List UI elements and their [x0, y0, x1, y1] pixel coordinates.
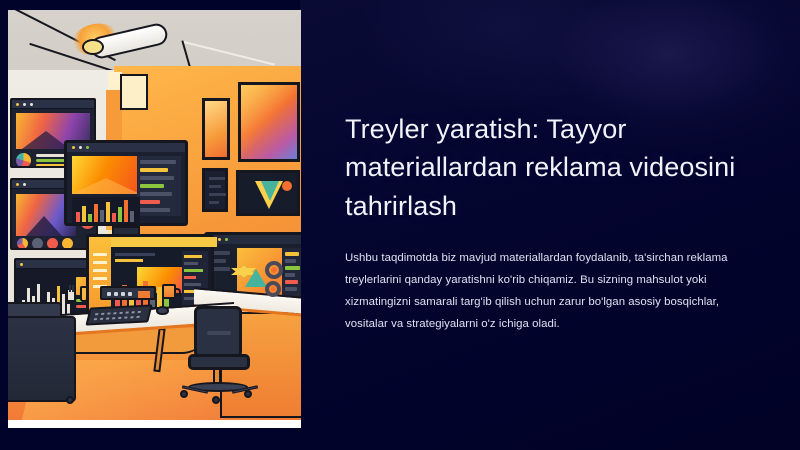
panel-row: [140, 176, 174, 180]
window-dot: [86, 146, 89, 149]
layer-row: [285, 266, 300, 270]
panel-row: [140, 160, 176, 164]
window-dot: [218, 238, 221, 241]
layer-row: [285, 280, 298, 284]
window-dot: [16, 103, 19, 106]
office-chair-base: [188, 382, 248, 392]
poster-circle: [282, 181, 292, 191]
keyboard-key: [106, 317, 110, 319]
triangle-shape-icon: [245, 269, 267, 287]
keyboard-key: [100, 318, 104, 320]
donut-chart: [47, 238, 58, 249]
tool-item: [93, 261, 107, 264]
keyboard-key: [130, 316, 134, 318]
side-panel: [137, 156, 181, 216]
console-panel: [138, 291, 150, 298]
slide-root: Treyler yaratish: Tayyor materiallardan …: [0, 0, 800, 450]
office-chair-backrest: [194, 306, 242, 358]
chart-bar: [94, 204, 98, 222]
tool-item: [93, 277, 107, 280]
panel-row: [115, 259, 143, 262]
keyboard-key: [131, 311, 135, 313]
console-led: [114, 292, 118, 296]
window-titlebar: [207, 235, 301, 244]
panel-row: [140, 168, 168, 172]
chart-bar: [88, 214, 92, 222]
layer-row: [285, 273, 295, 277]
chart-bar: [118, 207, 122, 222]
poster-light-streak: [241, 85, 297, 159]
poster-line: [209, 185, 221, 188]
keyboard-key: [94, 318, 98, 320]
page-title: Treyler yaratish: Tayyor materiallardan …: [345, 110, 737, 225]
waveform-bar: [62, 294, 65, 314]
effect-row: [184, 283, 201, 286]
window-dot: [20, 263, 23, 266]
chart-bar: [100, 210, 104, 222]
effect-row: [184, 255, 202, 258]
pencil-cup: [66, 288, 76, 302]
poster-line: [209, 201, 219, 204]
keyboard-key: [107, 312, 111, 314]
poster-line: [209, 193, 226, 196]
pc-tower: [8, 316, 76, 402]
window-titlebar: [67, 143, 185, 152]
panel-row: [115, 253, 155, 256]
window-dot: [23, 183, 26, 186]
donut-chart: [62, 238, 73, 249]
keyboard-key: [124, 317, 128, 319]
circle-shape-icon: [265, 281, 281, 297]
panel-row: [140, 200, 160, 204]
panel-row: [140, 208, 170, 212]
slide-copy-block: Treyler yaratish: Tayyor materiallardan …: [345, 110, 737, 335]
layer-row: [285, 287, 297, 291]
coffee-mug: [162, 284, 176, 299]
framed-poster-shapes: [236, 170, 300, 216]
chair-lumbar-bar: [207, 331, 231, 335]
pencil: [72, 285, 74, 292]
keyboard-key: [95, 313, 99, 315]
window-dot: [30, 103, 33, 106]
preview-image: [72, 156, 140, 194]
circle-shape-icon: [265, 261, 283, 279]
circle-inner: [271, 267, 277, 273]
chart-bar: [82, 206, 86, 222]
chart-bar: [76, 212, 80, 222]
illustration-bottom-strip: [8, 420, 301, 428]
window-dot: [225, 238, 228, 241]
effect-row: [184, 262, 198, 265]
panel-row: [140, 192, 172, 196]
keyboard: [85, 304, 152, 325]
chair-wheel: [180, 390, 188, 398]
keyboard-key: [136, 316, 140, 318]
chair-wheel: [244, 390, 252, 398]
poster-line: [209, 177, 225, 180]
layer-row: [285, 252, 299, 256]
poster-triangle-teal: [261, 181, 279, 201]
window-dot: [79, 146, 82, 149]
track-light-lens: [82, 39, 104, 55]
chart-bar: [112, 213, 116, 222]
layers-panel: [282, 248, 301, 300]
window-dot: [16, 183, 19, 186]
chart-bar: [124, 200, 128, 222]
pie-chart: [16, 153, 31, 168]
keyboard-key: [125, 312, 129, 314]
tool-item: [93, 269, 107, 272]
water-bottle: [80, 286, 88, 302]
console-led: [121, 292, 125, 296]
donut-chart: [32, 238, 43, 249]
keyboard-key: [137, 311, 141, 313]
audio-console: [100, 286, 156, 300]
circle-inner: [271, 287, 275, 291]
window-dot: [23, 103, 26, 106]
keyboard-key: [118, 317, 122, 319]
donut-chart: [17, 238, 28, 249]
keyboard-key: [119, 312, 123, 314]
effect-row: [184, 276, 196, 279]
layer-row: [285, 259, 296, 263]
effect-row: [184, 269, 203, 272]
bar-chart-panel: [72, 197, 140, 224]
framed-poster-dark-small: [202, 168, 228, 212]
framed-poster-gradient-small: [202, 98, 230, 160]
framed-poster-gradient-large: [238, 82, 300, 162]
keyboard-key: [112, 317, 116, 319]
keyboard-key: [101, 313, 105, 315]
wall-note-card: [120, 74, 148, 110]
mouse: [156, 306, 169, 315]
console-led: [128, 292, 132, 296]
window-titlebar: [12, 100, 94, 109]
keyboard-key: [113, 312, 117, 314]
panel-row: [140, 184, 164, 188]
tool-item: [93, 253, 107, 256]
video-editing-workstation-illustration: [8, 10, 301, 428]
editor-menubar: [111, 237, 217, 247]
slide-body-text: Ushbu taqdimotda biz mavjud materiallard…: [345, 247, 737, 335]
console-led: [107, 292, 111, 296]
pencil: [69, 285, 71, 292]
caster-wheel: [66, 396, 74, 404]
chart-bar: [130, 211, 134, 222]
chart-bar: [106, 202, 110, 222]
center-monitor-dashboard: [64, 140, 188, 226]
chair-wheel: [212, 396, 220, 404]
window-dot: [72, 146, 75, 149]
